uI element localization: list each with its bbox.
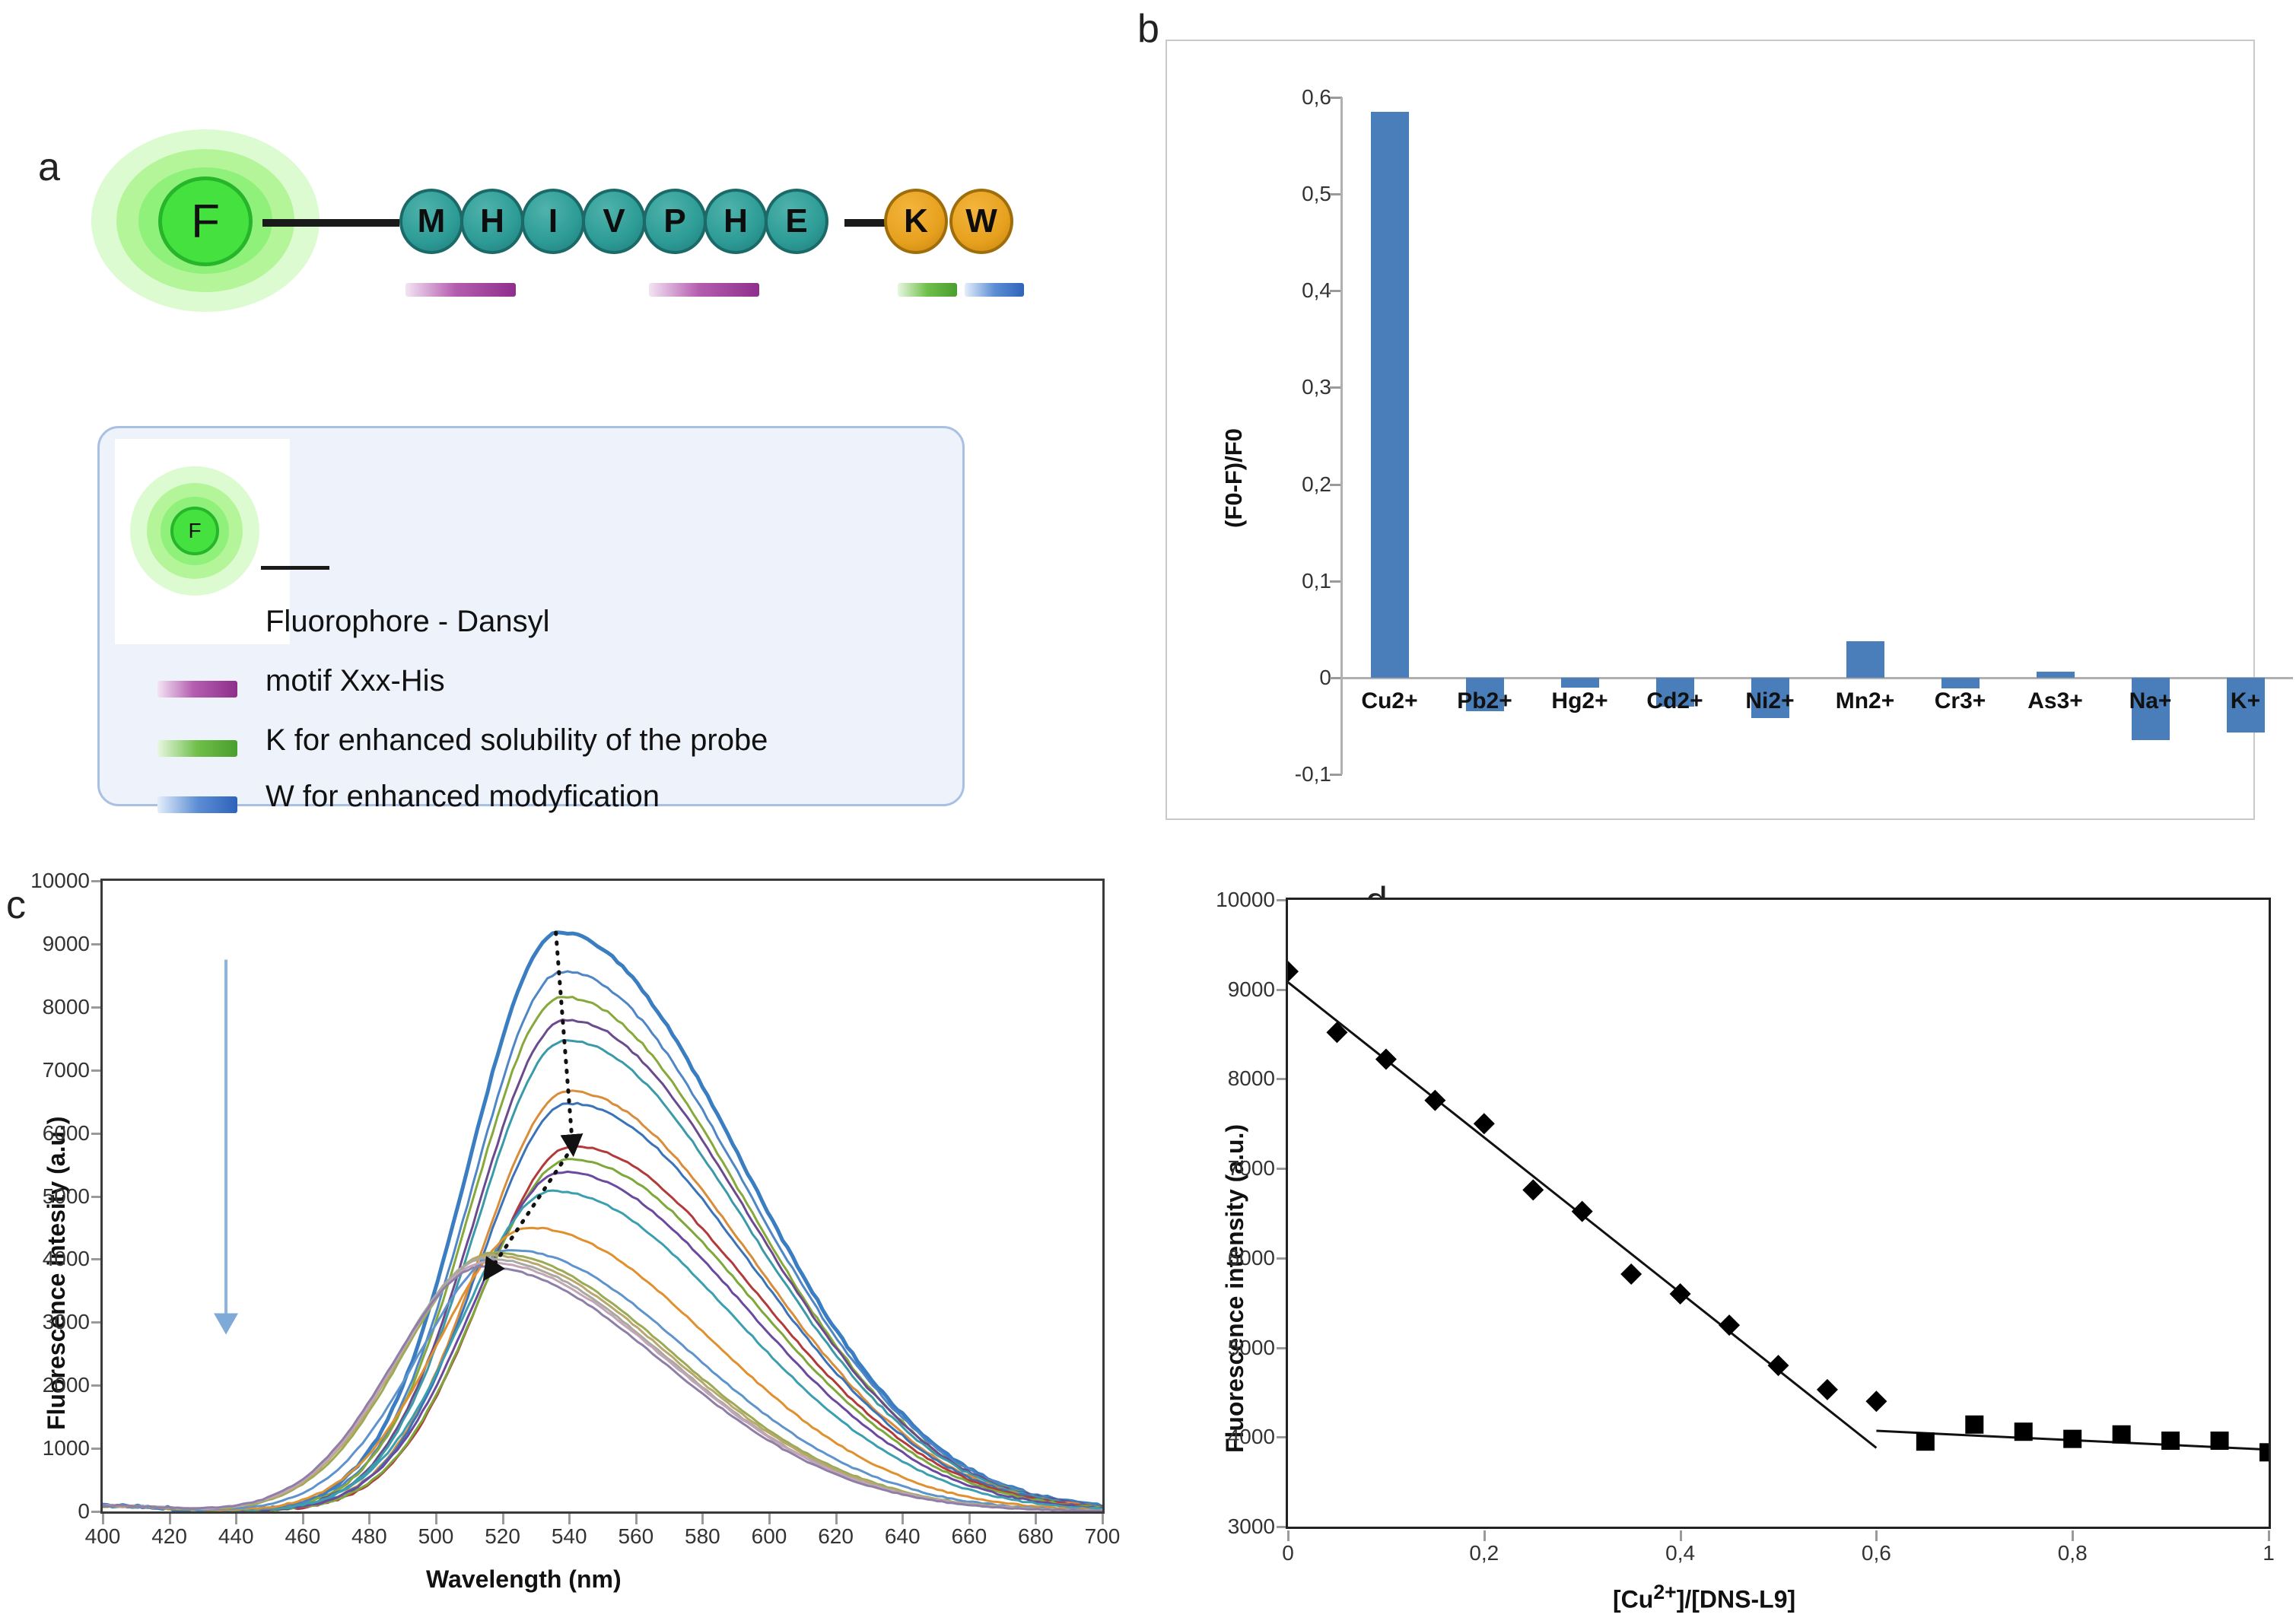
panel-c-x-tickmark-5	[435, 1514, 437, 1524]
panel-c-y-tick-4: 4000	[0, 1247, 90, 1271]
panel-c-x-tick-7: 540	[552, 1524, 587, 1549]
panel-a-letter: a	[38, 145, 60, 190]
panel-d-x-tick-3: 0,6	[1862, 1541, 1891, 1565]
legend-connector-line	[261, 566, 329, 570]
bond-fluorophore-to-chain	[262, 219, 399, 227]
panel-c-x-tick-3: 460	[285, 1524, 320, 1549]
panel-d-x-tickmark-2	[1680, 1530, 1682, 1541]
panel-c-x-tick-4: 480	[351, 1524, 387, 1549]
panel-d-point-diamond-7	[1620, 1263, 1642, 1285]
panel-b-category-6: Cr3+	[1935, 688, 1986, 714]
panel-d-y-tick-5: 8000	[1178, 1066, 1275, 1091]
panel-c-y-tick-9: 9000	[0, 932, 90, 956]
panel-c-y-tick-8: 8000	[0, 995, 90, 1019]
panel-b-category-2: Hg2+	[1551, 688, 1608, 714]
panel-d-point-square-2	[2015, 1422, 2033, 1441]
panel-b-y-tick-6: 0,5	[1258, 182, 1331, 206]
panel-b-y-tick-5: 0,4	[1258, 278, 1331, 303]
residue-label: P	[663, 202, 685, 240]
panel-c-shift-arrow-2	[489, 1147, 573, 1272]
panel-c-y-tick-5: 5000	[0, 1184, 90, 1209]
panel-d-x-tick-0: 0	[1282, 1541, 1294, 1565]
legend-swatch-purple	[157, 681, 237, 698]
panel-c-x-tick-0: 400	[85, 1524, 121, 1549]
residue-label: E	[785, 202, 807, 240]
panel-d-point-diamond-0	[1288, 961, 1299, 982]
panel-d-x-tickmark-4	[2072, 1530, 2074, 1541]
panel-c-y-tick-7: 7000	[0, 1058, 90, 1082]
panel-d-x-tick-1: 0,2	[1469, 1541, 1499, 1565]
panel-c-x-tick-8: 560	[618, 1524, 654, 1549]
panel-b-y-tick-4: 0,3	[1258, 375, 1331, 399]
panel-b-category-5: Mn2+	[1836, 688, 1895, 714]
panel-d-x-tick-2: 0,4	[1665, 1541, 1695, 1565]
panel-d-x-tickmark-1	[1483, 1530, 1486, 1541]
panel-b-plot-area	[1342, 97, 2293, 774]
panel-b-category-9: K+	[2231, 688, 2260, 714]
panel-c-x-tickmark-3	[302, 1514, 304, 1524]
panel-c-shift-arrow-1	[556, 933, 573, 1146]
residue-h-1: H	[460, 189, 524, 254]
panel-d-x-tick-4: 0,8	[2058, 1541, 2088, 1565]
panel-b-category-3: Cd2+	[1646, 688, 1703, 714]
panel-c-x-tickmark-4	[368, 1514, 370, 1524]
panel-d-point-square-7	[2259, 1443, 2269, 1461]
panel-d-y-tick-7: 10000	[1178, 888, 1275, 912]
panel-d-point-square-6	[2211, 1432, 2229, 1450]
residue-label: H	[480, 202, 504, 240]
panel-c-y-tick-10: 10000	[0, 869, 90, 893]
panel-d-y-tick-2: 5000	[1178, 1336, 1275, 1360]
panel-c-x-tickmark-0	[102, 1514, 104, 1524]
motif-bar-purple-2	[649, 283, 759, 297]
residue-label: H	[723, 202, 748, 240]
legend-swatch-green	[157, 740, 237, 757]
residue-label: K	[904, 202, 928, 240]
legend-item-label-2: K for enhanced solubility of the probe	[266, 723, 768, 758]
fluorophore-core: F	[158, 176, 253, 266]
residue-h-5: H	[704, 189, 768, 254]
panel-d-plot-area	[1286, 898, 2271, 1529]
residue-m-0: M	[399, 189, 463, 254]
panel-a-legend-box: F Fluorophore - Dansylmotif Xxx-HisK for…	[97, 426, 965, 806]
panel-c-x-tick-11: 620	[818, 1524, 854, 1549]
residue-i-2: I	[521, 189, 585, 254]
residue-label: I	[549, 202, 558, 240]
panel-c-x-tick-14: 680	[1018, 1524, 1054, 1549]
panel-c-x-tickmark-2	[235, 1514, 237, 1524]
motif-bar-purple-1	[405, 283, 516, 297]
legend-fluorophore-core: F	[170, 507, 219, 555]
panel-c-x-tick-6: 520	[485, 1524, 520, 1549]
motif-bar-green	[898, 283, 957, 297]
panel-d-point-diamond-11	[1817, 1379, 1838, 1400]
panel-c-x-tick-9: 580	[685, 1524, 720, 1549]
panel-d-y-tick-3: 6000	[1178, 1246, 1275, 1270]
panel-d-point-square-1	[1965, 1416, 1983, 1434]
residue-e-6: E	[765, 189, 828, 254]
panel-c-spectrum-2	[103, 997, 1102, 1511]
panel-c-x-tickmark-10	[768, 1514, 771, 1524]
panel-c-spectrum-1	[103, 971, 1102, 1511]
panel-d-point-diamond-12	[1865, 1390, 1887, 1412]
panel-d-x-tick-5: 1	[2263, 1541, 2275, 1565]
panel-c-spectrum-0	[103, 933, 1102, 1511]
panel-c-y-tick-0: 0	[0, 1499, 90, 1524]
panel-d-scatter-svg	[1288, 900, 2269, 1527]
panel-d-point-square-0	[1916, 1432, 1935, 1451]
panel-d-x-axis-label: [Cu2+]/[DNS-L9]	[1613, 1581, 1795, 1614]
panel-d-point-diamond-9	[1719, 1314, 1740, 1336]
panel-b-category-1: Pb2+	[1457, 688, 1512, 714]
legend-fluorophore-glow: F	[130, 466, 259, 596]
legend-fluorophore-core-label: F	[188, 519, 201, 543]
panel-c-x-tickmark-13	[968, 1514, 971, 1524]
panel-b-bar-cu2	[1371, 112, 1409, 678]
panel-c-x-tick-13: 660	[951, 1524, 987, 1549]
panel-c-x-axis-label: Wavelength (nm)	[426, 1565, 622, 1594]
motif-bar-blue	[965, 283, 1024, 297]
panel-c-x-tickmark-8	[635, 1514, 638, 1524]
panel-b-category-7: As3+	[2027, 688, 2083, 714]
panel-c-x-tick-10: 600	[752, 1524, 787, 1549]
residue-label: V	[603, 202, 625, 240]
panel-c-y-tick-2: 2000	[0, 1373, 90, 1397]
panel-b-bar-as3	[2037, 672, 2075, 678]
panel-c-x-tickmark-6	[502, 1514, 504, 1524]
residue-p-4: P	[643, 189, 707, 254]
residue-k-7: K	[884, 189, 948, 254]
panel-a: a F MHIVPHEKW F Fluorophore - Dansylmoti…	[0, 0, 1111, 852]
panel-d-x-tickmark-0	[1287, 1530, 1290, 1541]
panel-d-point-square-3	[2063, 1430, 2081, 1448]
panel-b-y-tick-3: 0,2	[1258, 472, 1331, 497]
panel-b-bar-cr3	[1941, 678, 1980, 688]
panel-b-y-tick-2: 0,1	[1258, 569, 1331, 593]
residue-v-3: V	[582, 189, 646, 254]
residue-label: W	[965, 202, 997, 240]
panel-d-y-tick-0: 3000	[1178, 1514, 1275, 1539]
panel-b-y-axis-label: (F0-F)/F0	[1220, 428, 1248, 528]
legend-item-label-1: motif Xxx-His	[266, 664, 445, 698]
panel-b-category-8: Na+	[2129, 688, 2172, 714]
panel-d-y-tick-1: 4000	[1178, 1425, 1275, 1449]
legend-item-label-0: Fluorophore - Dansyl	[266, 605, 550, 639]
panel-b-bar-hg2	[1561, 678, 1599, 688]
panel-c-x-tickmark-1	[169, 1514, 171, 1524]
panel-c-x-tick-5: 500	[418, 1524, 454, 1549]
panel-c-x-tick-15: 700	[1085, 1524, 1121, 1549]
panel-b-category-4: Ni2+	[1745, 688, 1794, 714]
panel-b-category-0: Cu2+	[1361, 688, 1417, 714]
panel-c-spectra-svg	[103, 881, 1102, 1511]
panel-d-x-tickmark-3	[1875, 1530, 1878, 1541]
fluorophore-core-label: F	[191, 195, 220, 249]
panel-b-frame: (F0-F)/F0 -0,100,10,20,30,40,50,6 Cu2+Pb…	[1165, 40, 2255, 820]
panel-c-x-tick-1: 420	[151, 1524, 187, 1549]
panel-c: c Fluorescence intesity (a.u.) 010002000…	[0, 852, 1141, 1624]
panel-b-y-tick-7: 0,6	[1258, 85, 1331, 110]
panel-d-point-square-4	[2113, 1425, 2131, 1444]
panel-c-x-tickmark-14	[1035, 1514, 1037, 1524]
panel-b-bar-mn2	[1846, 641, 1884, 678]
panel-c-spectrum-3	[103, 1020, 1102, 1511]
panel-d-point-diamond-6	[1572, 1201, 1593, 1222]
panel-c-x-tickmark-11	[835, 1514, 838, 1524]
panel-b-y-tick-0: -0,1	[1258, 762, 1331, 787]
residue-label: M	[418, 202, 446, 240]
panel-d-point-square-5	[2161, 1432, 2180, 1450]
panel-c-x-tickmark-7	[568, 1514, 571, 1524]
panel-b-letter: b	[1137, 6, 1159, 52]
panel-c-y-tick-1: 1000	[0, 1436, 90, 1460]
panel-c-x-tickmark-12	[902, 1514, 904, 1524]
legend-item-label-3: W for enhanced modyfication	[266, 780, 660, 814]
panel-d-y-tick-6: 9000	[1178, 977, 1275, 1002]
panel-c-x-tickmark-9	[701, 1514, 704, 1524]
panel-c-x-tick-2: 440	[218, 1524, 254, 1549]
panel-d-point-diamond-1	[1326, 1022, 1347, 1043]
panel-c-y-tick-3: 3000	[0, 1310, 90, 1334]
panel-b: b (F0-F)/F0 -0,100,10,20,30,40,50,6 Cu2+…	[1118, 0, 2296, 852]
residue-w-8: W	[949, 189, 1013, 254]
panel-d-point-diamond-10	[1768, 1355, 1789, 1376]
panel-d-x-tickmark-5	[2268, 1530, 2270, 1541]
bond-chain-to-tail	[844, 219, 886, 227]
panel-c-y-tick-6: 6000	[0, 1121, 90, 1146]
panel-c-x-tickmark-15	[1102, 1514, 1104, 1524]
panel-c-x-tick-12: 640	[885, 1524, 921, 1549]
panel-d: d Fluorescence intensity (a.u.) 30004000…	[1141, 852, 2296, 1624]
panel-c-plot-area	[100, 879, 1105, 1514]
legend-swatch-blue	[157, 796, 237, 813]
panel-b-y-tick-1: 0	[1258, 666, 1331, 690]
panel-d-y-tick-4: 7000	[1178, 1156, 1275, 1181]
